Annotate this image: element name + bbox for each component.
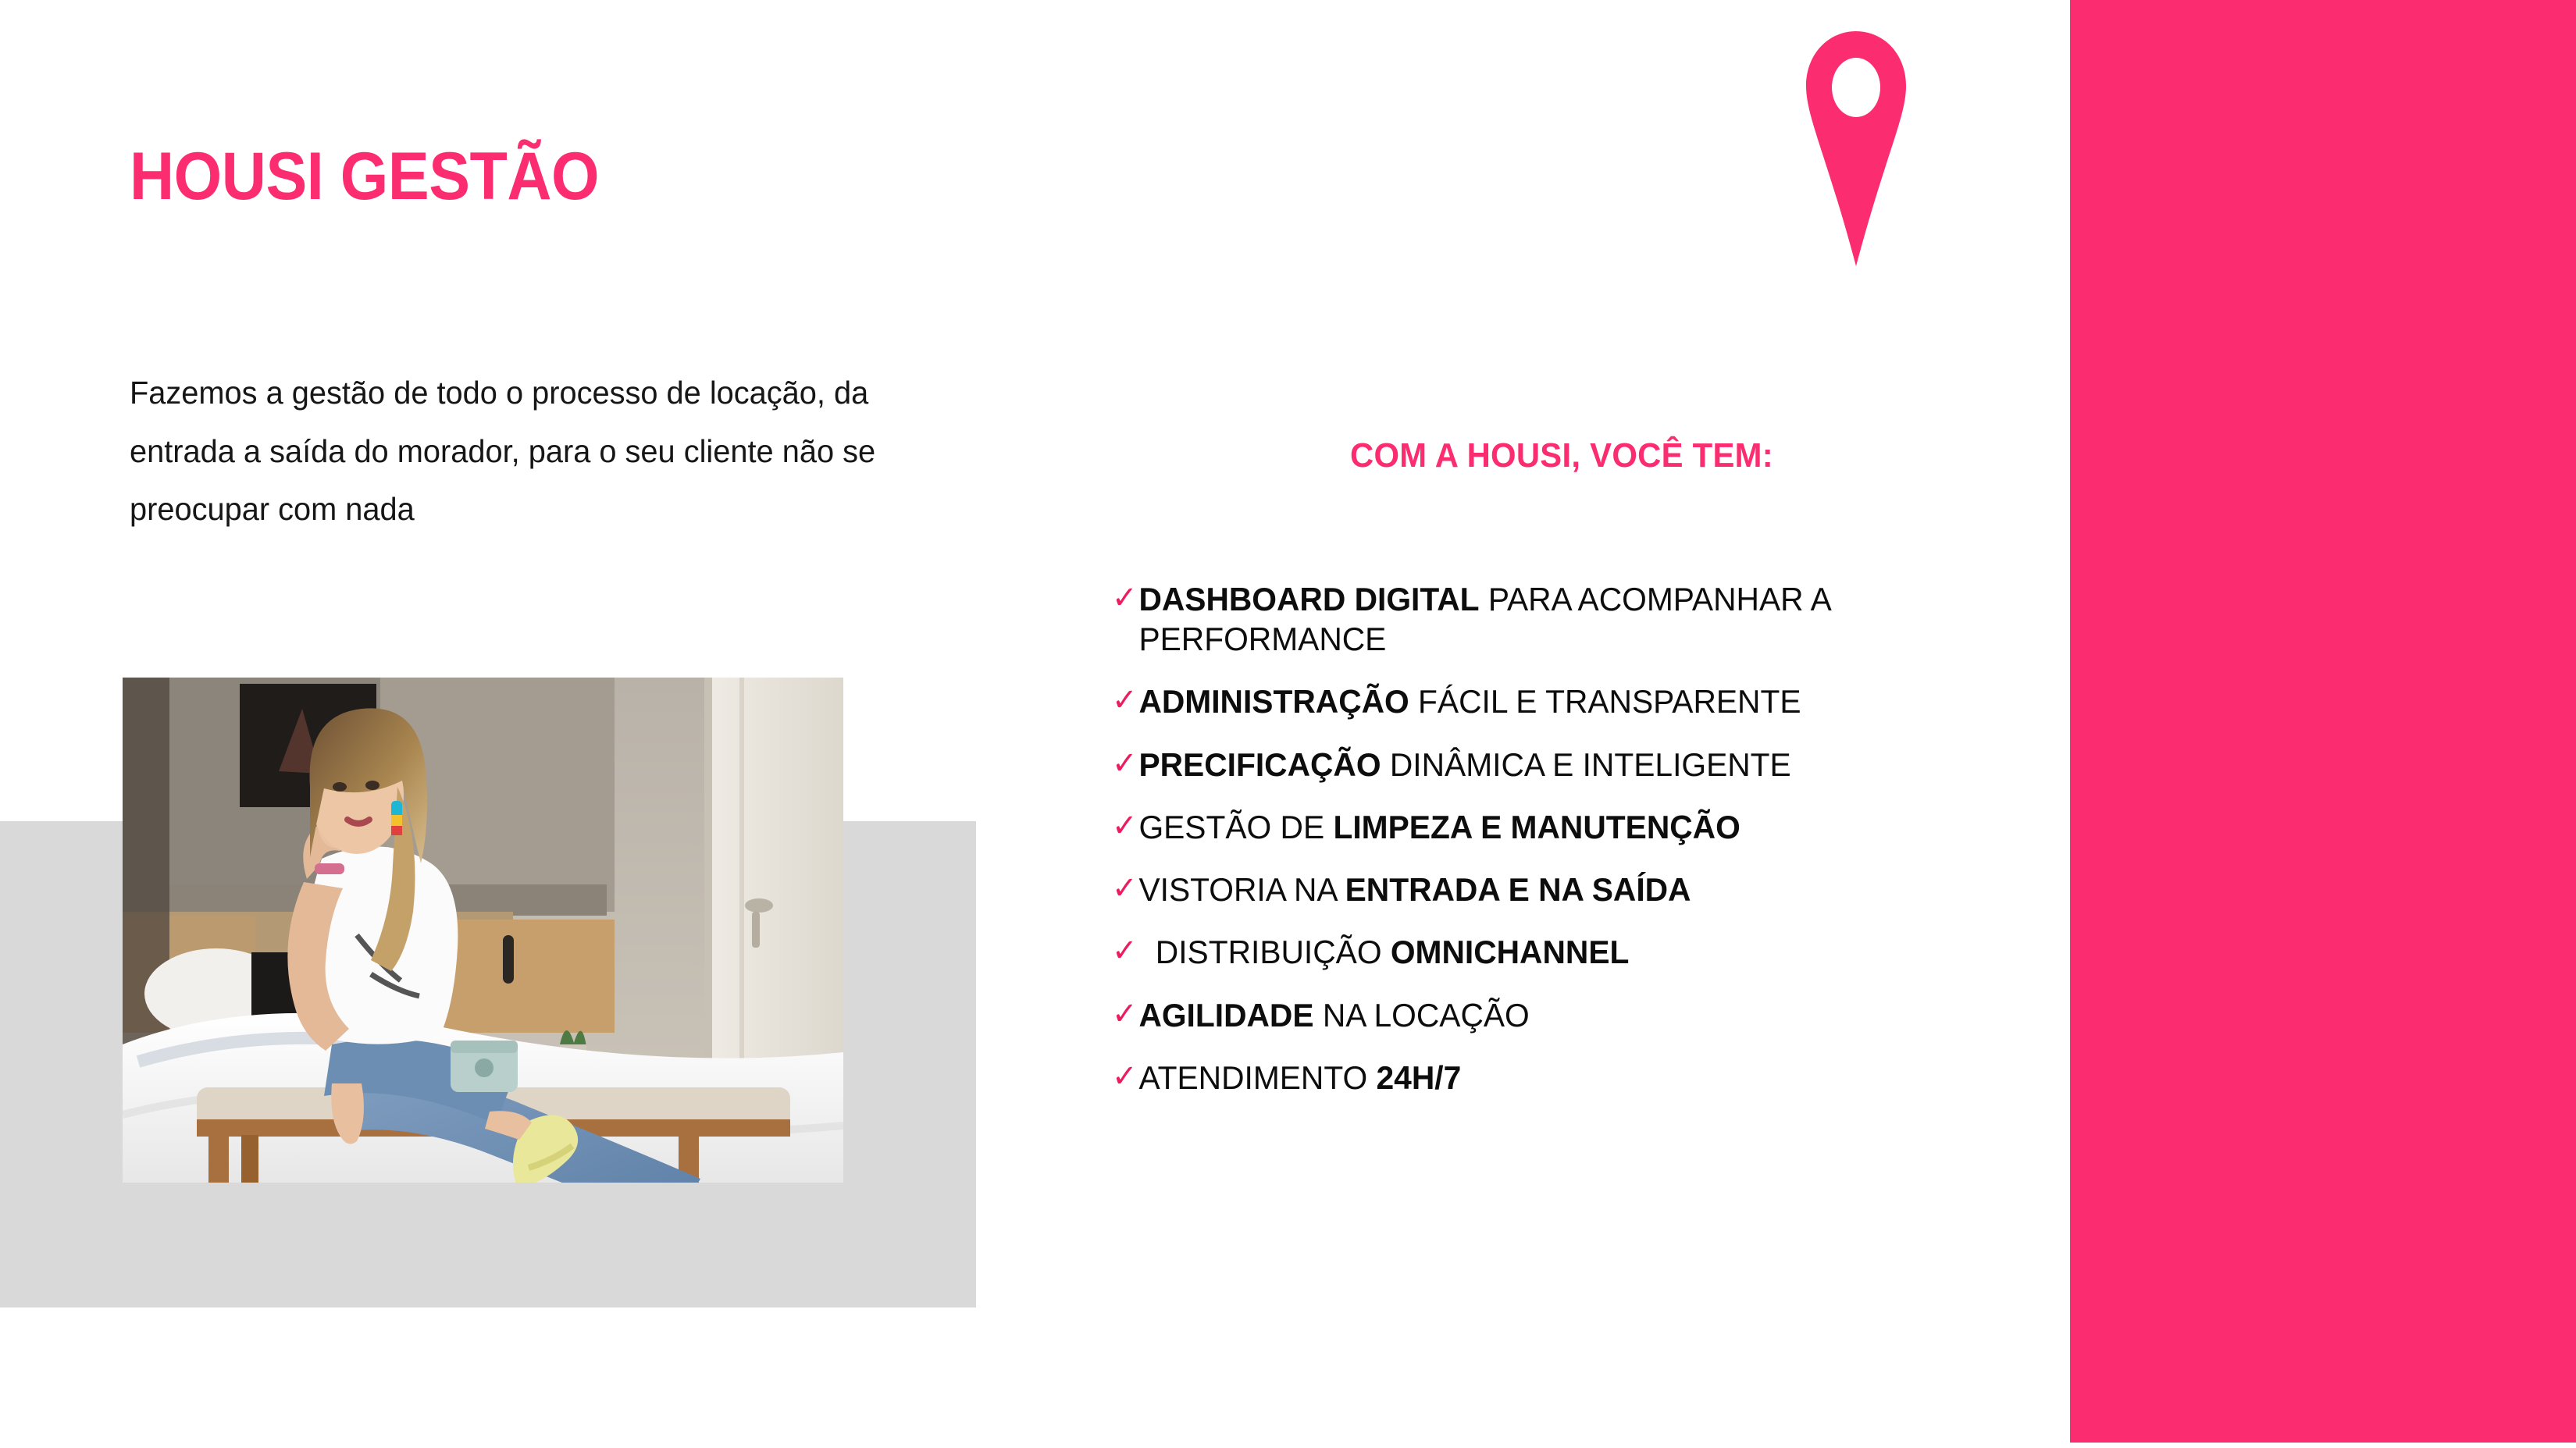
check-icon: ✓ [1112,995,1138,1034]
benefit-item: ✓VISTORIA NA ENTRADA E NA SAÍDA [1112,870,2021,909]
check-icon: ✓ [1112,1058,1138,1097]
benefit-text: ADMINISTRAÇÃO FÁCIL E TRANSPARENTE [1138,681,2021,721]
benefit-item: ✓ADMINISTRAÇÃO FÁCIL E TRANSPARENTE [1112,681,2021,721]
benefit-text: GESTÃO DE LIMPEZA E MANUTENÇÃO [1138,807,2021,847]
lead-paragraph: Fazemos a gestão de todo o processo de l… [130,364,971,539]
benefit-item: ✓PRECIFICAÇÃO DINÂMICA E INTELIGENTE [1112,745,2021,784]
benefits-heading: COM A HOUSI, VOCÊ TEM: [1117,436,2007,475]
check-icon: ✓ [1112,807,1138,846]
check-icon: ✓ [1112,745,1138,784]
benefit-item: ✓DISTRIBUIÇÃO OMNICHANNEL [1112,932,2021,972]
benefit-text: VISTORIA NA ENTRADA E NA SAÍDA [1138,870,2021,909]
benefit-item: ✓ATENDIMENTO 24H/7 [1112,1058,2021,1098]
check-icon: ✓ [1112,870,1138,909]
check-icon: ✓ [1112,932,1138,971]
location-pin-icon [1805,30,1908,268]
bedroom-photo [123,678,843,1183]
benefit-text: PRECIFICAÇÃO DINÂMICA E INTELIGENTE [1138,745,2021,784]
page-title: HOUSI GESTÃO [130,141,599,213]
benefit-text: ATENDIMENTO 24H/7 [1138,1058,2021,1098]
benefit-item: ✓AGILIDADE NA LOCAÇÃO [1112,995,2021,1035]
check-icon: ✓ [1112,579,1138,618]
right-pink-band [2070,0,2576,1443]
benefit-text: DISTRIBUIÇÃO OMNICHANNEL [1156,932,2021,972]
benefits-list: ✓DASHBOARD DIGITAL PARA ACOMPANHAR A PER… [1112,579,2049,1098]
benefit-text: AGILIDADE NA LOCAÇÃO [1138,995,2021,1035]
benefit-item: ✓GESTÃO DE LIMPEZA E MANUTENÇÃO [1112,807,2021,847]
benefit-text: DASHBOARD DIGITAL PARA ACOMPANHAR A PERF… [1138,579,2021,659]
check-icon: ✓ [1112,681,1138,720]
benefit-item: ✓DASHBOARD DIGITAL PARA ACOMPANHAR A PER… [1112,579,2021,659]
